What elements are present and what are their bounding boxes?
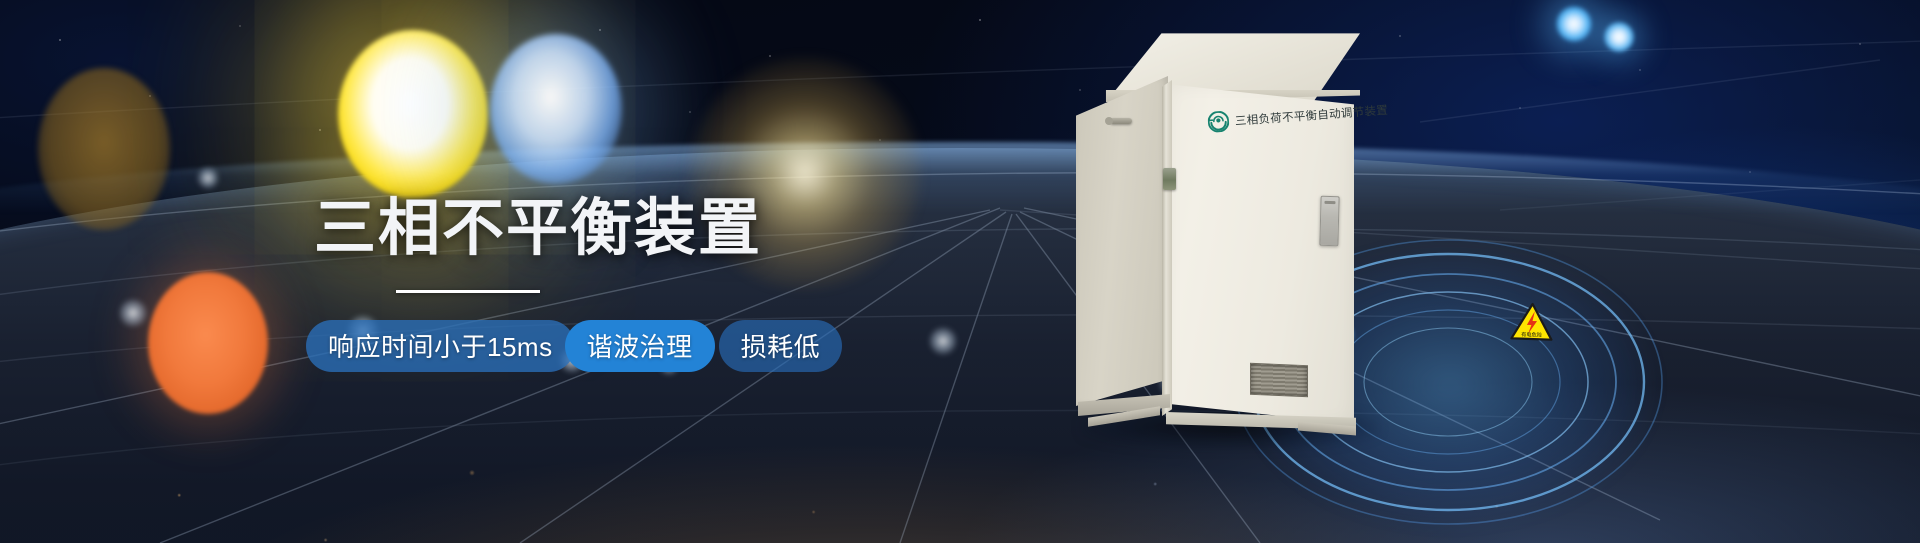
feature-tag-list: 响应时间小于15ms 谐波治理 损耗低	[306, 320, 954, 372]
feature-tag-response-time[interactable]: 响应时间小于15ms	[306, 320, 575, 372]
title-divider	[396, 290, 540, 293]
cabinet-vent-grille	[1250, 363, 1308, 397]
product-cabinet: 三相负荷不平衡自动调节装置	[1062, 28, 1362, 428]
cabinet-side-panel	[1076, 76, 1168, 406]
network-lines	[0, 0, 1920, 543]
feature-tag-low-loss[interactable]: 损耗低	[719, 320, 843, 372]
page-title: 三相不平衡装置	[314, 196, 954, 262]
cabinet-lock-plate	[1319, 196, 1339, 246]
cabinet-top-handle	[1110, 118, 1132, 124]
cabinet-latch	[1163, 168, 1176, 190]
hero-banner: 三相不平衡装置 响应时间小于15ms 谐波治理 损耗低 三相负荷不平衡自动调节装…	[0, 0, 1920, 543]
banner-copy: 三相不平衡装置 响应时间小于15ms 谐波治理 损耗低	[314, 196, 954, 372]
feature-tag-harmonic-control[interactable]: 谐波治理	[565, 320, 715, 372]
node-glow-a	[120, 300, 146, 326]
cabinet-hinge-column	[1162, 80, 1172, 416]
high-voltage-warning-icon: 有电危险	[1509, 301, 1554, 343]
green-shield-logo-icon	[1207, 110, 1229, 132]
node-glow-f	[198, 168, 218, 188]
